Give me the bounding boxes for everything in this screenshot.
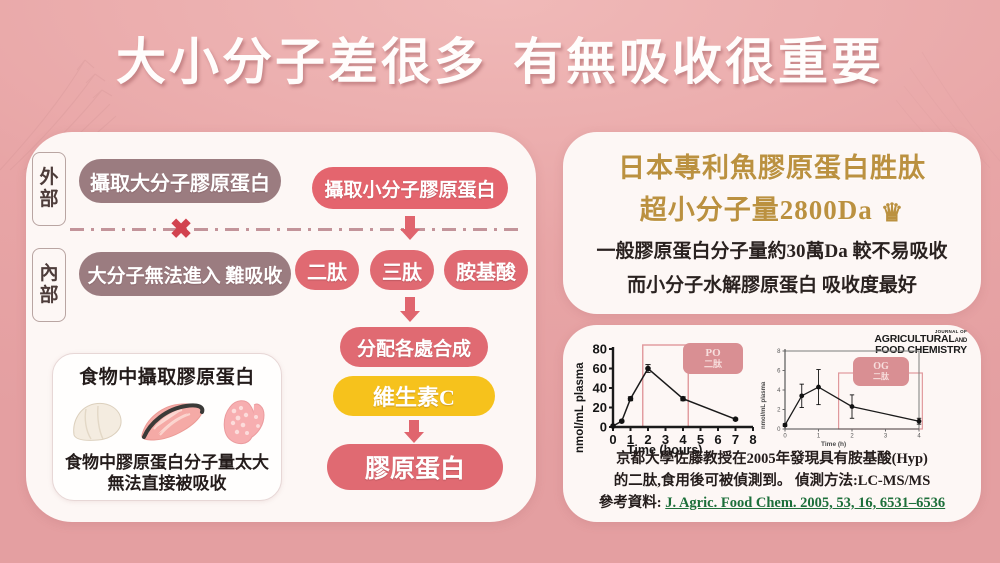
svg-text:2: 2 bbox=[850, 434, 854, 440]
claim-headline-2: 超小分子量2800Da♛ bbox=[563, 188, 981, 228]
fish-roe-icon bbox=[214, 395, 272, 447]
svg-text:4: 4 bbox=[917, 434, 921, 440]
journal-logo-and: AND bbox=[955, 338, 967, 344]
svg-text:8: 8 bbox=[749, 432, 756, 447]
svg-text:20: 20 bbox=[593, 400, 607, 415]
pill-amino-acid: 胺基酸 bbox=[444, 250, 528, 290]
chart-po-ylabel: nmol/mL plasma bbox=[574, 362, 586, 453]
claim-headline-2-text: 超小分子量2800Da bbox=[640, 195, 873, 225]
page-title: 大小分子差很多有無吸收很重要 bbox=[0, 22, 1000, 94]
svg-text:0: 0 bbox=[600, 420, 607, 435]
pill-intake-small-collagen: 攝取小分子膠原蛋白 bbox=[312, 167, 508, 209]
svg-text:2: 2 bbox=[777, 408, 781, 414]
chart-og-ylabel: nmol/mL plasma bbox=[761, 382, 767, 429]
section-label-inner: 內 部 bbox=[32, 248, 66, 322]
svg-text:0: 0 bbox=[609, 432, 616, 447]
section-label-outer-char2: 部 bbox=[39, 189, 58, 211]
product-claim-card: 日本專利魚膠原蛋白胜肽 超小分子量2800Da♛ 一般膠原蛋白分子量約30萬Da… bbox=[563, 132, 981, 314]
research-evidence-card: JOURNAL OF AGRICULTURALAND FOOD CHEMISTR… bbox=[563, 325, 981, 522]
pill-large-cannot-enter: 大分子無法進入 難吸收 bbox=[79, 252, 291, 296]
svg-text:0: 0 bbox=[777, 427, 781, 433]
page-title-part2: 有無吸收很重要 bbox=[513, 34, 884, 90]
food-box-footnote-line2: 無法直接被吸收 bbox=[108, 474, 227, 493]
salmon-slice-icon bbox=[136, 395, 208, 447]
section-label-inner-char2: 部 bbox=[39, 285, 58, 307]
section-label-inner-char1: 內 bbox=[39, 263, 58, 285]
pill-vitamin-c: 維生素C bbox=[333, 376, 495, 416]
food-box-title: 食物中攝取膠原蛋白 bbox=[53, 362, 281, 389]
section-label-outer: 外 部 bbox=[32, 152, 66, 226]
svg-text:1: 1 bbox=[817, 434, 821, 440]
research-footnote-3: 參考資料: J. Agric. Food Chem. 2005, 53, 16,… bbox=[563, 491, 981, 512]
food-box-images bbox=[61, 392, 275, 450]
membrane-dashed-line bbox=[70, 228, 522, 231]
claim-sub-2: 而小分子水解膠原蛋白 吸收度最好 bbox=[563, 270, 981, 297]
claim-sub-1: 一般膠原蛋白分子量約30萬Da 較不易吸收 bbox=[563, 236, 981, 263]
svg-text:40: 40 bbox=[593, 381, 607, 396]
pill-intake-large-collagen: 攝取大分子膠原蛋白 bbox=[79, 159, 281, 203]
svg-text:7: 7 bbox=[732, 432, 739, 447]
cross-mark-icon: ✖ bbox=[168, 216, 194, 242]
pill-distributed-synthesis: 分配各處合成 bbox=[340, 327, 488, 367]
food-source-box: 食物中攝取膠原蛋白 bbox=[52, 353, 282, 501]
chart-og-annotation-line2: 二肽 bbox=[873, 373, 889, 381]
research-reference-link[interactable]: J. Agric. Food Chem. 2005, 53, 16, 6531–… bbox=[665, 495, 945, 511]
svg-text:0: 0 bbox=[783, 434, 787, 440]
research-footnote-2: 的二肽,食用後可被偵測到。 偵測方法:LC-MS/MS bbox=[563, 469, 981, 490]
section-label-outer-char1: 外 bbox=[39, 167, 58, 189]
white-fish-slice-icon bbox=[64, 395, 130, 447]
chart-po-annotation: PO 二肽 bbox=[683, 343, 743, 374]
chart-po-annotation-line1: PO bbox=[705, 348, 720, 360]
chart-og-annotation-line1: OG bbox=[873, 362, 889, 373]
svg-text:80: 80 bbox=[593, 342, 607, 357]
research-footnote-3-label: 參考資料: bbox=[599, 495, 662, 511]
svg-text:60: 60 bbox=[593, 361, 607, 376]
claim-headline-1: 日本專利魚膠原蛋白胜肽 bbox=[563, 146, 981, 185]
chart-po-annotation-line2: 二肽 bbox=[704, 360, 722, 369]
svg-text:4: 4 bbox=[777, 388, 781, 394]
svg-text:8: 8 bbox=[777, 349, 781, 355]
pill-dipeptide: 二肽 bbox=[295, 250, 359, 290]
pill-tripeptide: 三肽 bbox=[370, 250, 434, 290]
svg-text:3: 3 bbox=[884, 434, 888, 440]
page-title-part1: 大小分子差很多 bbox=[116, 34, 487, 90]
chart-og: 0123402468 nmol/mL plasma Time (h) OG 二肽 bbox=[759, 343, 929, 455]
chart-po: 012345678020406080 nmol/mL plasma Time (… bbox=[575, 339, 765, 459]
svg-text:6: 6 bbox=[714, 432, 721, 447]
research-footnote-1: 京都大學佐藤教授在2005年發現具有胺基酸(Hyp) bbox=[563, 447, 981, 468]
food-box-footnote: 食物中膠原蛋白分子量太大 無法直接被吸收 bbox=[53, 452, 281, 495]
chart-og-annotation: OG 二肽 bbox=[853, 357, 909, 386]
svg-text:6: 6 bbox=[777, 369, 781, 375]
crown-icon: ♛ bbox=[881, 200, 904, 227]
food-box-footnote-line1: 食物中膠原蛋白分子量太大 bbox=[65, 453, 269, 472]
pill-collagen-result: 膠原蛋白 bbox=[327, 444, 503, 490]
